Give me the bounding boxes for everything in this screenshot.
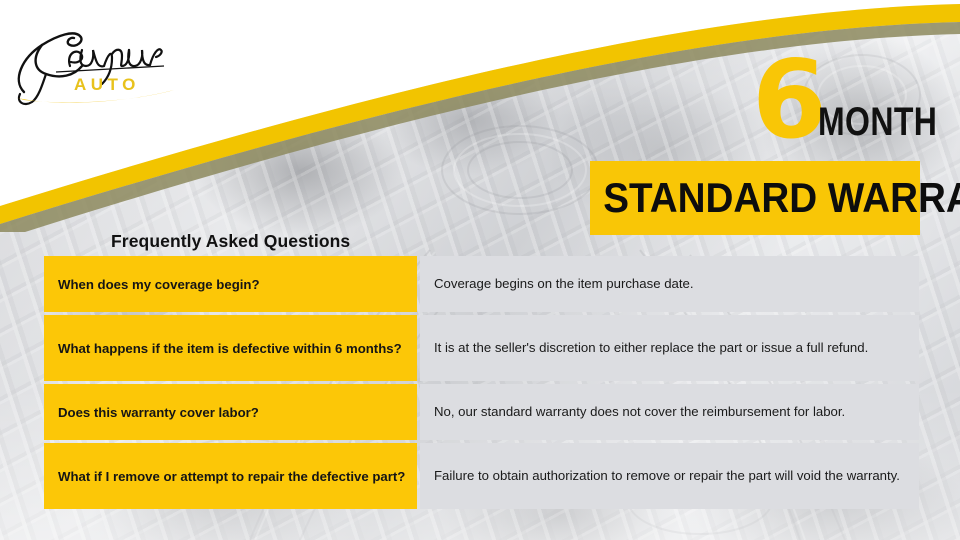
faq-answer-cell: Coverage begins on the item purchase dat…	[420, 256, 919, 312]
faq-question-text: Does this warranty cover labor?	[58, 404, 259, 421]
page-title: Frequently Asked Questions	[111, 231, 350, 252]
faq-table: When does my coverage begin? Coverage be…	[44, 256, 919, 509]
seymour-auto-logo: AUTO	[8, 14, 198, 110]
warranty-months-number: 6	[752, 47, 824, 155]
faq-answer-text: No, our standard warranty does not cover…	[434, 403, 903, 421]
faq-question-cell: What if I remove or attempt to repair th…	[44, 443, 417, 509]
faq-answer-text: Coverage begins on the item purchase dat…	[434, 275, 903, 293]
warranty-months-unit: MONTH	[818, 102, 937, 142]
faq-question-text: When does my coverage begin?	[58, 276, 260, 293]
faq-question-cell: When does my coverage begin?	[44, 256, 417, 312]
table-row: What happens if the item is defective wi…	[44, 315, 919, 381]
table-row: Does this warranty cover labor? No, our …	[44, 384, 919, 440]
table-row: What if I remove or attempt to repair th…	[44, 443, 919, 509]
warranty-slide: AUTO 6 MONTH STANDARD WARRANTY Frequentl…	[0, 0, 960, 540]
svg-text:AUTO: AUTO	[74, 75, 140, 94]
faq-answer-cell: It is at the seller's discretion to eith…	[420, 315, 919, 381]
faq-question-text: What happens if the item is defective wi…	[58, 340, 402, 357]
table-row: When does my coverage begin? Coverage be…	[44, 256, 919, 312]
faq-answer-cell: Failure to obtain authorization to remov…	[420, 443, 919, 509]
standard-warranty-label: STANDARD WARRANTY	[603, 177, 907, 219]
faq-answer-text: Failure to obtain authorization to remov…	[434, 467, 903, 485]
faq-question-cell: What happens if the item is defective wi…	[44, 315, 417, 381]
faq-question-text: What if I remove or attempt to repair th…	[58, 468, 405, 485]
faq-question-cell: Does this warranty cover labor?	[44, 384, 417, 440]
standard-warranty-banner: STANDARD WARRANTY	[590, 161, 920, 235]
faq-answer-cell: No, our standard warranty does not cover…	[420, 384, 919, 440]
faq-answer-text: It is at the seller's discretion to eith…	[434, 339, 903, 357]
